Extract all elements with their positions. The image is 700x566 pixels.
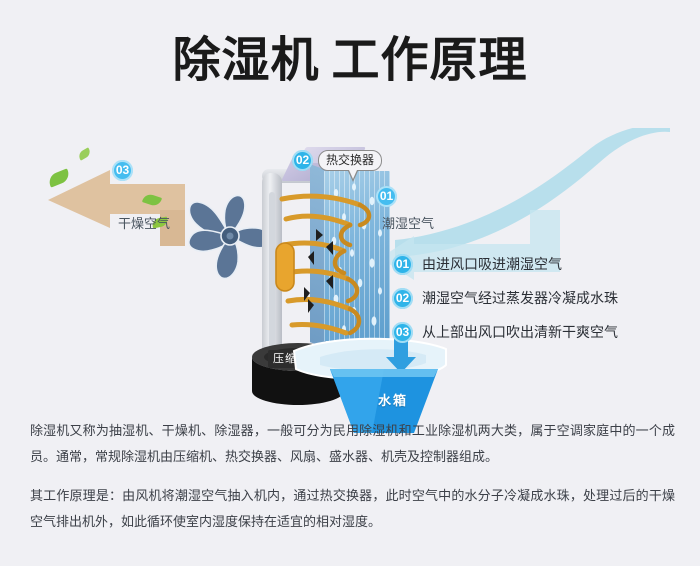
legend-item: 03 从上部出风口吹出清新干爽空气	[392, 320, 692, 354]
dehumidifier-illustration: 压缩机 水箱	[190, 145, 410, 395]
heat-exchanger-callout: 热交换器	[318, 150, 382, 171]
page-title-part1: 除湿机	[172, 34, 319, 87]
callout-badge-02: 02	[292, 150, 313, 171]
callout-badge-03: 03	[112, 160, 133, 181]
dry-air-label: 干燥空气	[118, 213, 170, 232]
legend-badge-01: 01	[392, 254, 413, 275]
legend-item: 01 由进风口吸进潮湿空气	[392, 252, 692, 286]
humid-air-label: 潮湿空气	[382, 213, 434, 232]
infographic-page: 除湿机工作原理	[0, 0, 700, 566]
copper-coil-assembly	[268, 185, 398, 353]
callout-tail	[348, 171, 358, 182]
description-paragraph-2: 其工作原理是：由风机将潮湿空气抽入机内，通过热交换器，此时空气中的水分子冷凝成水…	[30, 483, 675, 535]
callout-badge-01: 01	[376, 186, 397, 207]
legend-item: 02 潮湿空气经过蒸发器冷凝成水珠	[392, 286, 692, 320]
legend-text-01: 由进风口吸进潮湿空气	[422, 252, 562, 276]
legend-badge-03: 03	[392, 322, 413, 343]
description-paragraph-1: 除湿机又称为抽湿机、干燥机、除湿器，一般可分为民用除湿机和工业除湿机两大类，属于…	[30, 418, 675, 470]
legend-badge-02: 02	[392, 288, 413, 309]
page-title: 除湿机工作原理	[0, 30, 700, 92]
leaf-icon	[77, 147, 92, 160]
legend-list: 01 由进风口吸进潮湿空气 02 潮湿空气经过蒸发器冷凝成水珠 03 从上部出风…	[392, 252, 692, 354]
page-title-part2: 工作原理	[332, 34, 528, 87]
legend-text-03: 从上部出风口吹出清新干爽空气	[422, 320, 618, 344]
water-tank-label: 水箱	[378, 390, 408, 409]
legend-text-02: 潮湿空气经过蒸发器冷凝成水珠	[422, 286, 618, 310]
